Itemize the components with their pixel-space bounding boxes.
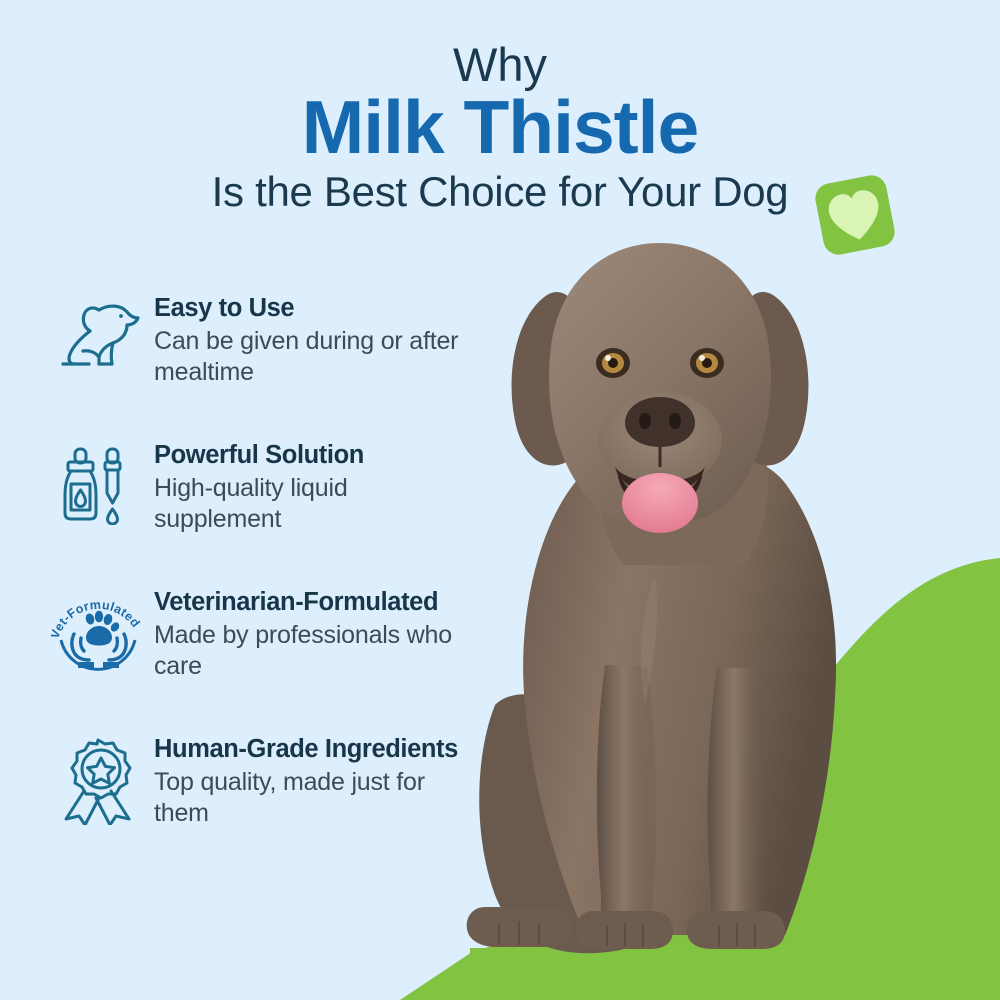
dog-photo	[455, 235, 925, 965]
poster-canvas: Why Milk Thistle Is the Best Choice for …	[0, 0, 1000, 1000]
heading-line-why: Why	[0, 40, 1000, 90]
feature-text-veterinarian-formulated: Veterinarian-Formulated Made by professi…	[150, 586, 476, 683]
feature-desc: Made by professionals who care	[154, 620, 476, 684]
heart-icon	[812, 172, 898, 258]
award-ribbon-icon	[46, 733, 150, 831]
feature-text-easy-to-use: Easy to Use Can be given during or after…	[150, 292, 476, 389]
feature-title: Easy to Use	[154, 294, 476, 324]
feature-text-human-grade-ingredients: Human-Grade Ingredients Top quality, mad…	[150, 733, 476, 830]
feature-desc: Can be given during or after mealtime	[154, 326, 476, 390]
feature-title: Veterinarian-Formulated	[154, 588, 476, 618]
feature-title: Human-Grade Ingredients	[154, 735, 476, 765]
feature-item-veterinarian-formulated: Vet-Formulated	[46, 586, 476, 684]
feature-title: Powerful Solution	[154, 441, 476, 471]
feature-item-easy-to-use: Easy to Use Can be given during or after…	[46, 292, 476, 390]
heading-line-product: Milk Thistle	[0, 88, 1000, 168]
feature-desc: High-quality liquid supplement	[154, 473, 476, 537]
feature-text-powerful-solution: Powerful Solution High-quality liquid su…	[150, 439, 476, 536]
sitting-dog-icon	[46, 292, 150, 390]
vet-formulated-icon: Vet-Formulated	[46, 586, 150, 684]
features-list: Easy to Use Can be given during or after…	[46, 292, 476, 831]
dropper-bottle-icon	[46, 439, 150, 537]
feature-item-powerful-solution: Powerful Solution High-quality liquid su…	[46, 439, 476, 537]
feature-item-human-grade-ingredients: Human-Grade Ingredients Top quality, mad…	[46, 733, 476, 831]
feature-desc: Top quality, made just for them	[154, 767, 476, 831]
